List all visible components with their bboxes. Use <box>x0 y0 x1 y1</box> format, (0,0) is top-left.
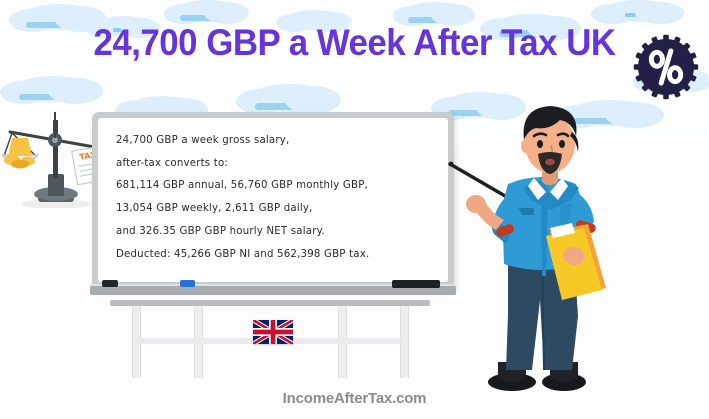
whiteboard: 24,700 GBP a week gross salary, after-ta… <box>92 112 454 304</box>
pointer-stick <box>449 162 512 200</box>
cloud-icon <box>604 0 674 22</box>
stand-crossbar <box>136 338 256 344</box>
uk-flag-icon <box>253 320 293 344</box>
percent-badge-icon <box>631 32 701 102</box>
stand-crossbar <box>286 338 404 344</box>
whiteboard-line-3: 681,114 GBP annual, 56,760 GBP monthly G… <box>116 175 440 198</box>
page-title: 24,700 GBP a Week After Tax UK <box>21 22 687 64</box>
whiteboard-line-5: and 326.35 GBP GBP hourly NET salary. <box>116 221 440 244</box>
blue-marker-icon <box>180 280 195 287</box>
whiteboard-line-1: 24,700 GBP a week gross salary, <box>116 130 440 153</box>
cloud-icon <box>14 76 92 102</box>
black-marker-icon <box>102 280 118 287</box>
teacher-figure <box>446 96 686 392</box>
whiteboard-line-4: 13,054 GBP weekly, 2,611 GBP daily, <box>116 198 440 221</box>
cloud-icon <box>404 2 466 24</box>
black-eraser-icon <box>392 280 440 288</box>
cloud-icon <box>250 84 330 112</box>
site-footer: IncomeAfterTax.com <box>0 390 709 407</box>
cloud-icon <box>176 0 240 22</box>
whiteboard-text: 24,700 GBP a week gross salary, after-ta… <box>116 130 440 266</box>
whiteboard-line-6: Deducted: 45,266 GBP NI and 562,398 GBP … <box>116 244 440 267</box>
infographic-page: 24,700 GBP a Week After Tax UK <box>0 0 709 419</box>
whiteboard-line-2: after-tax converts to: <box>116 153 440 176</box>
